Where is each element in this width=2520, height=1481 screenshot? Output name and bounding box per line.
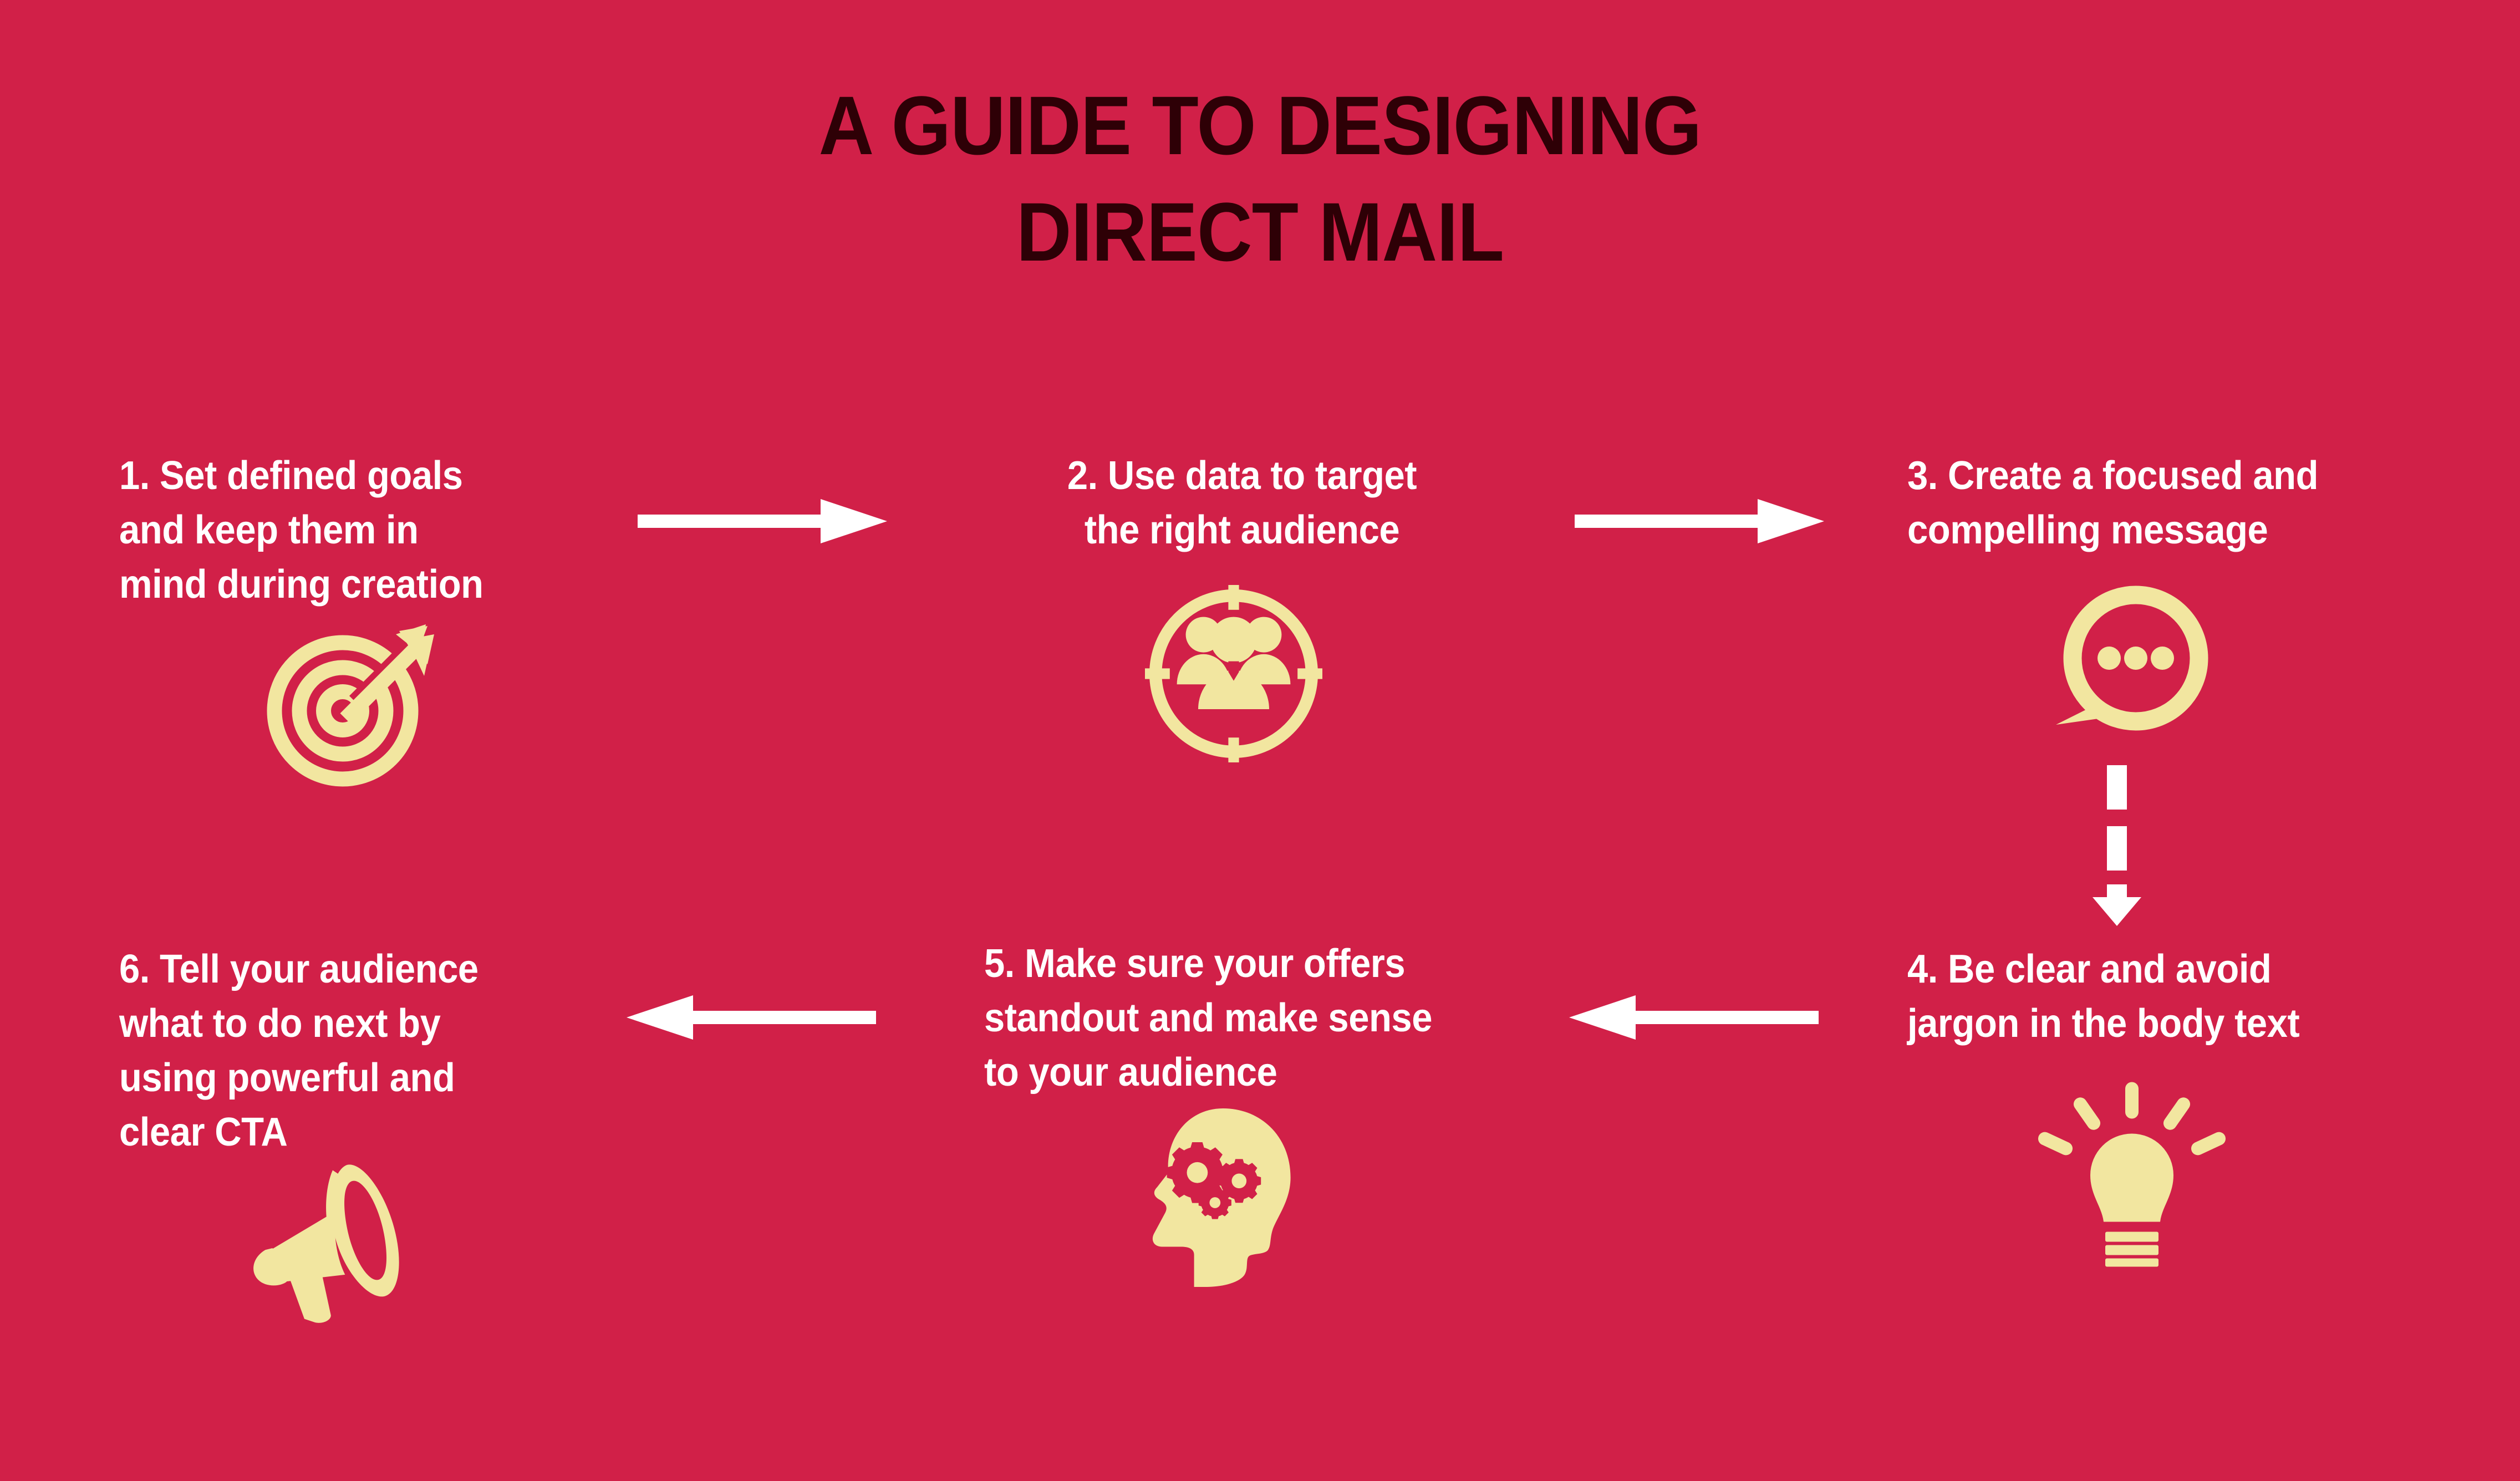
step-1-text: 1. Set defined goals and keep them in mi… [119,449,568,612]
arrow-step4-to-step5 [1569,984,1819,1051]
arrow-step3-to-step4 [2085,765,2151,926]
infographic-canvas: A GUIDE TO DESIGNING DIRECT MAIL 1. Set … [0,0,2520,1481]
step-3-text: 3. Create a focused and compelling messa… [1907,449,2382,558]
arrow-step1-to-step2 [638,488,887,554]
step-2-text: 2. Use data to target the right audience [1010,449,1474,558]
step-6-text: 6. Tell your audience what to do next by… [119,943,568,1160]
arrow-right-icon [638,488,887,554]
step-4: 4. Be clear and avoid jargon in the body… [1907,943,2417,1051]
step-5: 5. Make sure your offers standout and ma… [984,937,1539,1100]
audience-target-icon [1145,585,1322,762]
step-2-icon-wrap [1145,585,1322,762]
speech-bubble-icon [2046,585,2212,751]
step-6-icon-wrap [244,1156,421,1322]
step-3-icon-wrap [2046,585,2212,751]
arrow-step5-to-step6 [627,984,876,1051]
arrow-right-icon [1575,488,1824,554]
arrow-left-icon [627,984,876,1051]
step-4-icon-wrap [2049,1078,2215,1267]
step-4-text: 4. Be clear and avoid jargon in the body… [1907,943,2382,1051]
arrow-left-icon [1569,984,1819,1051]
step-5-text: 5. Make sure your offers standout and ma… [984,937,1500,1100]
megaphone-icon [244,1156,421,1322]
step-5-icon-wrap [1139,1106,1300,1289]
page-title: A GUIDE TO DESIGNING DIRECT MAIL [101,72,2419,285]
step-1: 1. Set defined goals and keep them in mi… [119,449,602,612]
lightbulb-icon [2049,1078,2215,1267]
head-gears-icon [1139,1106,1300,1289]
step-2: 2. Use data to target the right audience [992,449,1491,558]
arrow-down-dashed-icon [2085,765,2151,926]
target-icon [266,621,432,787]
step-3: 3. Create a focused and compelling messa… [1907,449,2417,558]
arrow-step2-to-step3 [1575,488,1824,554]
step-1-icon-wrap [266,621,432,787]
step-6: 6. Tell your audience what to do next by… [119,943,602,1160]
